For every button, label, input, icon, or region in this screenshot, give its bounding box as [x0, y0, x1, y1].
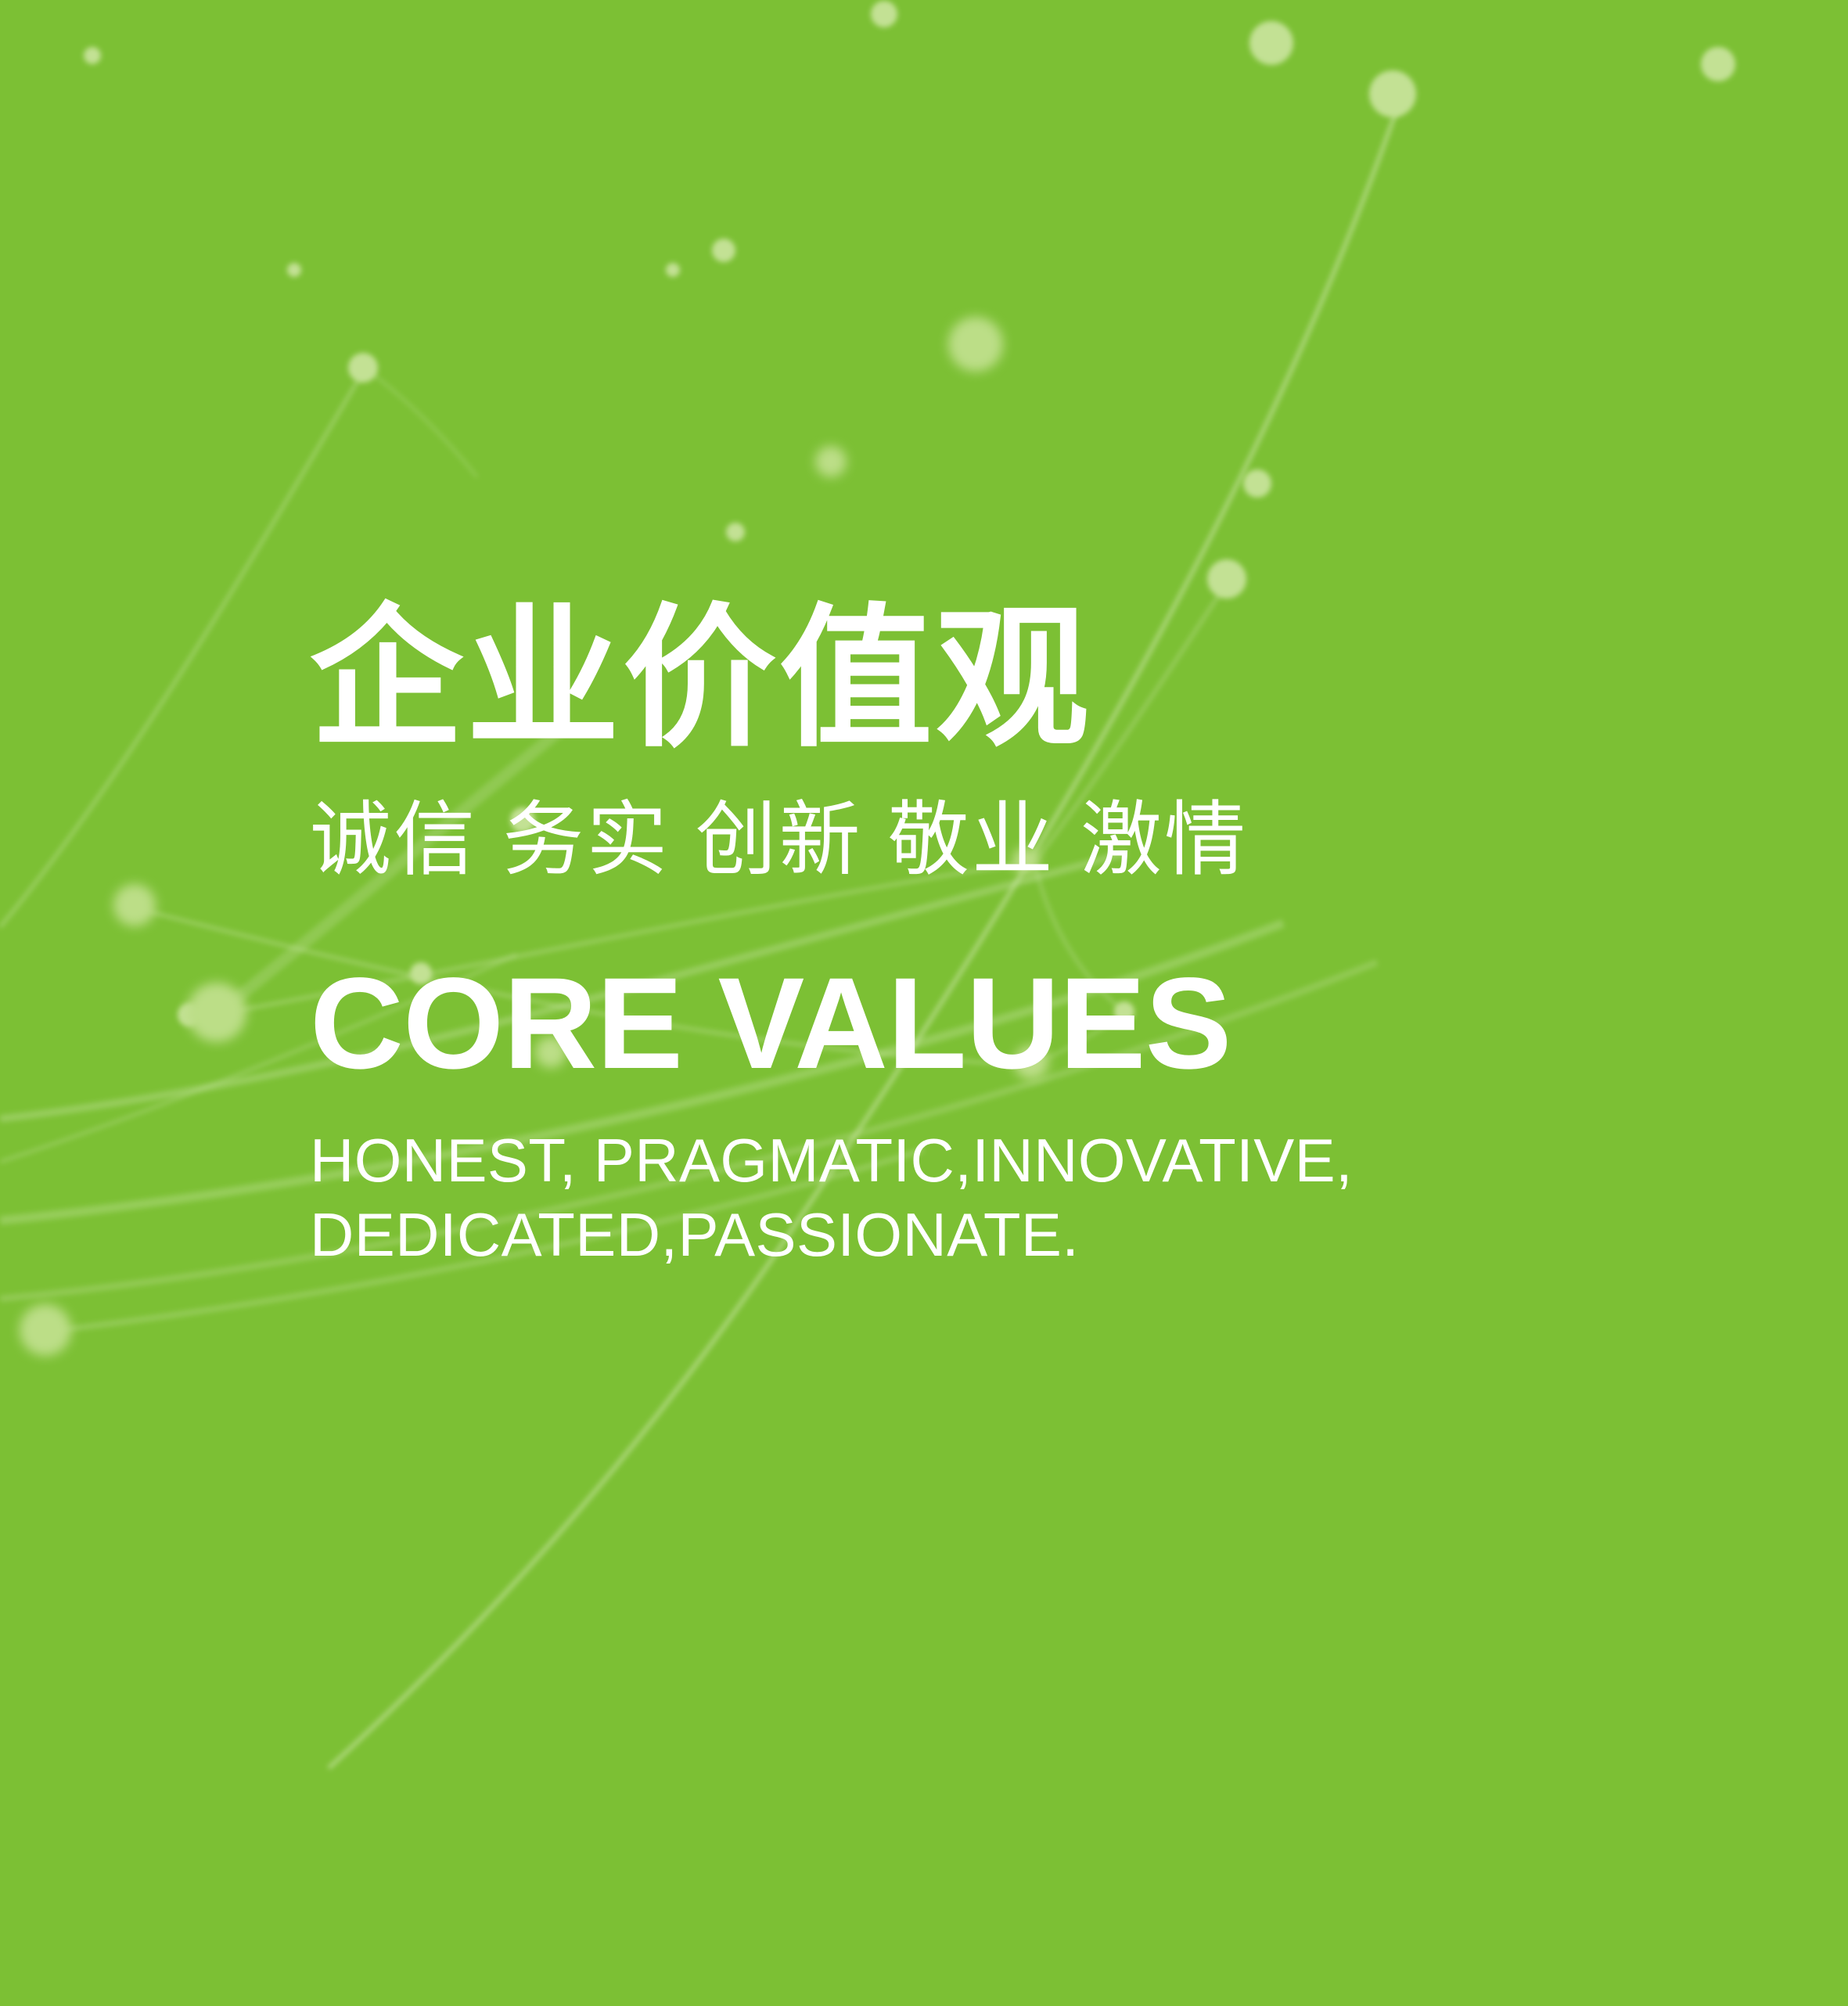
chinese-title: 企业价值观: [310, 602, 1718, 756]
english-subtitle: HONEST, PRAGMATIC,INNOVATIVE, DEDICATED,…: [310, 1123, 1718, 1272]
english-title: CORE VALUES: [310, 959, 1718, 1089]
english-subtitle-line-2: DEDICATED,PASSIONATE.: [310, 1198, 1718, 1272]
english-subtitle-line-1: HONEST, PRAGMATIC,INNOVATIVE,: [310, 1123, 1718, 1198]
core-values-poster: 企业价值观 诚信 务实 创新 敬业 激情 CORE VALUES HONEST,…: [0, 0, 1848, 2006]
poster-text-block: 企业价值观 诚信 务实 创新 敬业 激情 CORE VALUES HONEST,…: [310, 602, 1718, 1272]
chinese-subtitle: 诚信 务实 创新 敬业 激情: [310, 800, 1718, 881]
